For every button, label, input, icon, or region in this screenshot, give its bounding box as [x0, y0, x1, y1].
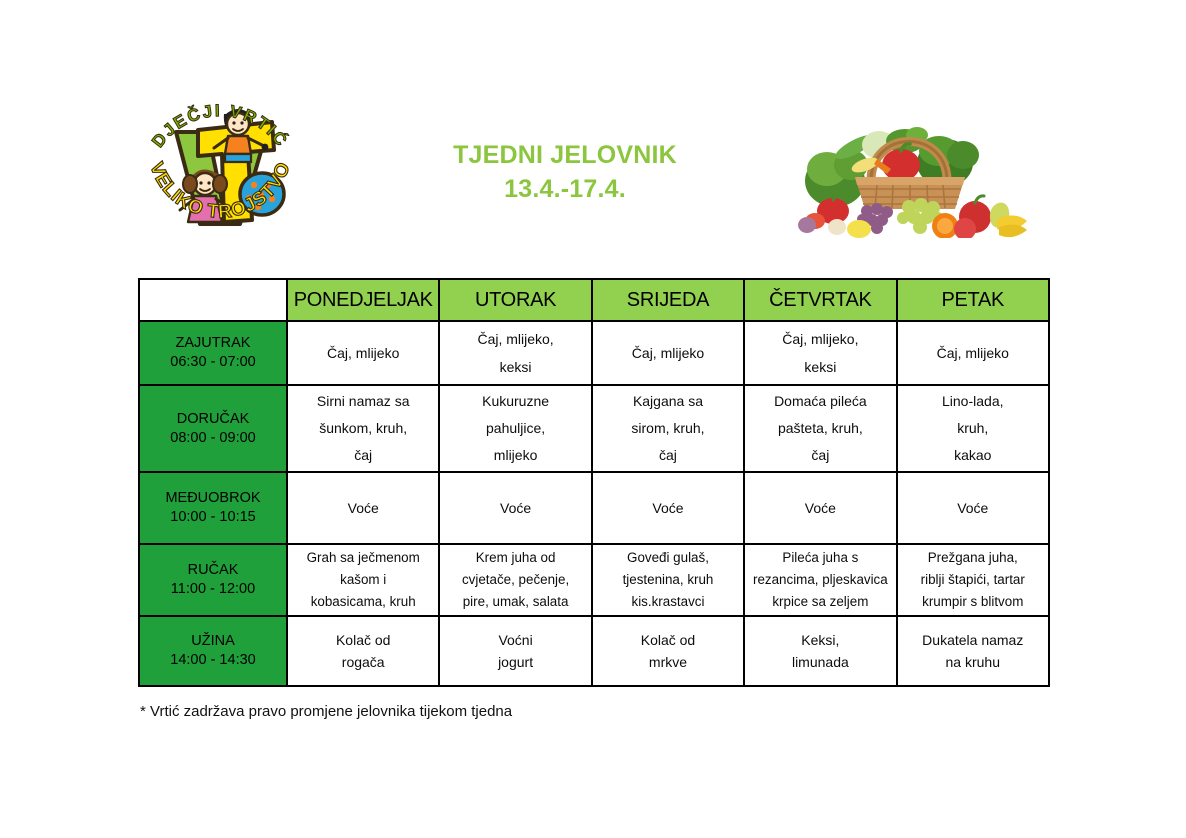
- menu-cell-zajutrak-srijeda: Čaj, mlijeko: [592, 321, 744, 385]
- table-row: RUČAK 11:00 - 12:00 Grah sa ječmenom kaš…: [139, 544, 1049, 616]
- menu-cell-medjuobrok-utorak: Voće: [439, 472, 591, 544]
- fruits-vegetables-basket-image: [793, 107, 1033, 238]
- table-row: DORUČAK 08:00 - 09:00 Sirni namaz sa šun…: [139, 385, 1049, 472]
- meal-name: DORUČAK: [143, 410, 283, 429]
- table-row: MEĐUOBROK 10:00 - 10:15 Voće Voće Voće V…: [139, 472, 1049, 544]
- meal-time: 10:00 - 10:15: [143, 508, 283, 527]
- page-header: DJEČJI VRTIĆ VELIKO TROJSTVO TJEDNI JELO…: [0, 0, 1186, 270]
- menu-cell-zajutrak-cetvrtak: Čaj, mlijeko, keksi: [744, 321, 896, 385]
- menu-cell-dorucak-petak: Lino-lada, kruh, kakao: [897, 385, 1049, 472]
- day-header-utorak: UTORAK: [439, 279, 591, 321]
- table-row: UŽINA 14:00 - 14:30 Kolač od rogača Voćn…: [139, 616, 1049, 686]
- menu-cell-rucak-ponedjeljak: Grah sa ječmenom kašom i kobasicama, kru…: [287, 544, 439, 616]
- meal-time: 06:30 - 07:00: [143, 353, 283, 372]
- table-row: ZAJUTRAK 06:30 - 07:00 Čaj, mlijeko Čaj,…: [139, 321, 1049, 385]
- meal-label-rucak: RUČAK 11:00 - 12:00: [139, 544, 287, 616]
- menu-cell-uzina-utorak: Voćni jogurt: [439, 616, 591, 686]
- title-line-1: TJEDNI JELOVNIK: [360, 138, 770, 172]
- menu-cell-uzina-ponedjeljak: Kolač od rogača: [287, 616, 439, 686]
- meal-name: UŽINA: [143, 632, 283, 651]
- menu-cell-rucak-srijeda: Goveđi gulaš, tjestenina, kruh kis.krast…: [592, 544, 744, 616]
- table-header-row: PONEDJELJAK UTORAK SRIJEDA ČETVRTAK PETA…: [139, 279, 1049, 321]
- menu-cell-uzina-cetvrtak: Keksi, limunada: [744, 616, 896, 686]
- meal-time: 11:00 - 12:00: [143, 580, 283, 599]
- page-title: TJEDNI JELOVNIK 13.4.-17.4.: [360, 138, 770, 206]
- day-header-cetvrtak: ČETVRTAK: [744, 279, 896, 321]
- menu-cell-zajutrak-ponedjeljak: Čaj, mlijeko: [287, 321, 439, 385]
- meal-label-medjuobrok: MEĐUOBROK 10:00 - 10:15: [139, 472, 287, 544]
- meal-name: ZAJUTRAK: [143, 334, 283, 353]
- day-header-ponedjeljak: PONEDJELJAK: [287, 279, 439, 321]
- title-line-2: 13.4.-17.4.: [360, 172, 770, 206]
- menu-cell-medjuobrok-cetvrtak: Voće: [744, 472, 896, 544]
- menu-cell-medjuobrok-ponedjeljak: Voće: [287, 472, 439, 544]
- weekly-menu-table: PONEDJELJAK UTORAK SRIJEDA ČETVRTAK PETA…: [138, 278, 1050, 687]
- meal-label-dorucak: DORUČAK 08:00 - 09:00: [139, 385, 287, 472]
- menu-cell-dorucak-utorak: Kukuruzne pahuljice, mlijeko: [439, 385, 591, 472]
- menu-cell-medjuobrok-srijeda: Voće: [592, 472, 744, 544]
- menu-cell-uzina-petak: Dukatela namaz na kruhu: [897, 616, 1049, 686]
- menu-cell-zajutrak-petak: Čaj, mlijeko: [897, 321, 1049, 385]
- meal-label-zajutrak: ZAJUTRAK 06:30 - 07:00: [139, 321, 287, 385]
- table-corner-cell: [139, 279, 287, 321]
- day-header-srijeda: SRIJEDA: [592, 279, 744, 321]
- menu-cell-dorucak-cetvrtak: Domaća pileća pašteta, kruh, čaj: [744, 385, 896, 472]
- menu-footnote: * Vrtić zadržava pravo promjene jelovnik…: [140, 703, 512, 720]
- menu-cell-medjuobrok-petak: Voće: [897, 472, 1049, 544]
- menu-cell-dorucak-srijeda: Kajgana sa sirom, kruh, čaj: [592, 385, 744, 472]
- menu-cell-rucak-utorak: Krem juha od cvjetače, pečenje, pire, um…: [439, 544, 591, 616]
- menu-cell-uzina-srijeda: Kolač od mrkve: [592, 616, 744, 686]
- menu-cell-dorucak-ponedjeljak: Sirni namaz sa šunkom, kruh, čaj: [287, 385, 439, 472]
- meal-time: 14:00 - 14:30: [143, 651, 283, 670]
- kindergarten-logo: DJEČJI VRTIĆ VELIKO TROJSTVO: [136, 72, 304, 238]
- meal-time: 08:00 - 09:00: [143, 429, 283, 448]
- meal-label-uzina: UŽINA 14:00 - 14:30: [139, 616, 287, 686]
- menu-cell-rucak-petak: Prežgana juha, riblji štapići, tartar kr…: [897, 544, 1049, 616]
- meal-name: RUČAK: [143, 561, 283, 580]
- menu-cell-rucak-cetvrtak: Pileća juha s rezancima, pljeskavica krp…: [744, 544, 896, 616]
- menu-cell-zajutrak-utorak: Čaj, mlijeko, keksi: [439, 321, 591, 385]
- meal-name: MEĐUOBROK: [143, 489, 283, 508]
- day-header-petak: PETAK: [897, 279, 1049, 321]
